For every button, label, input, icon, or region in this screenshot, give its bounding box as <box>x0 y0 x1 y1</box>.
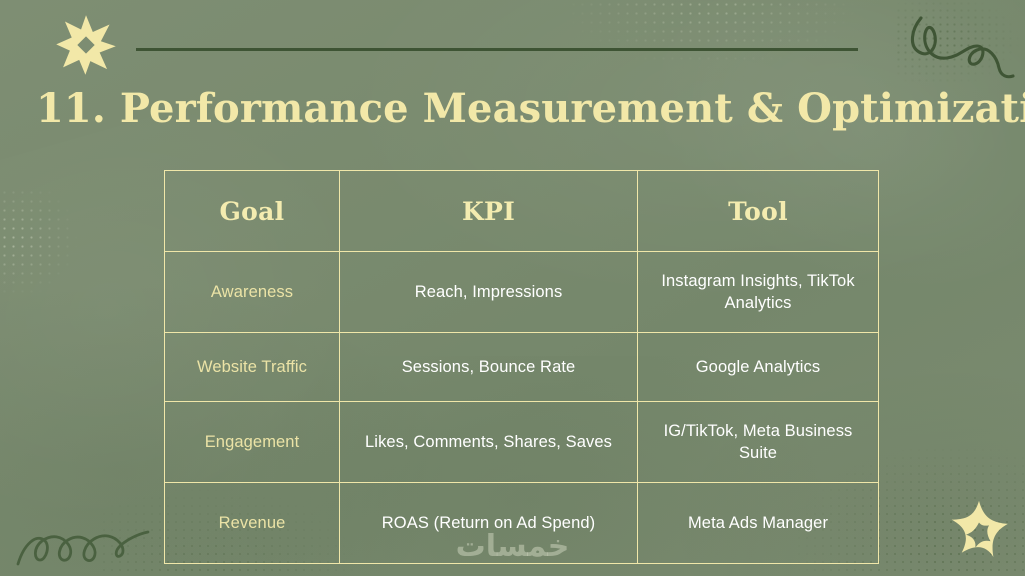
cell-goal: Website Traffic <box>165 333 340 402</box>
sparkle-star-icon <box>55 14 117 76</box>
cell-goal: Awareness <box>165 252 340 333</box>
slide-canvas: 11. Performance Measurement & Optimizati… <box>0 0 1025 576</box>
cell-goal: Engagement <box>165 402 340 483</box>
table-header-row: Goal KPI Tool <box>165 171 879 252</box>
cell-kpi: Sessions, Bounce Rate <box>340 333 638 402</box>
table-row: Website Traffic Sessions, Bounce Rate Go… <box>165 333 879 402</box>
column-header-goal: Goal <box>165 171 340 252</box>
cell-tool: Instagram Insights, TikTok Analytics <box>638 252 879 333</box>
cell-tool: IG/TikTok, Meta Business Suite <box>638 402 879 483</box>
table-body: Awareness Reach, Impressions Instagram I… <box>165 252 879 564</box>
page-title: 11. Performance Measurement & Optimizati… <box>36 86 988 132</box>
table-head: Goal KPI Tool <box>165 171 879 252</box>
cell-kpi: Likes, Comments, Shares, Saves <box>340 402 638 483</box>
loopy-squiggle-icon <box>899 6 1017 86</box>
watermark: خمسات <box>0 529 1025 564</box>
header-divider <box>136 48 858 51</box>
column-header-kpi: KPI <box>340 171 638 252</box>
cell-kpi: Reach, Impressions <box>340 252 638 333</box>
table-row: Engagement Likes, Comments, Shares, Save… <box>165 402 879 483</box>
kpi-table-wrapper: Goal KPI Tool Awareness Reach, Impressio… <box>164 170 878 564</box>
table-row: Awareness Reach, Impressions Instagram I… <box>165 252 879 333</box>
cell-tool: Google Analytics <box>638 333 879 402</box>
halftone-dots-top <box>560 0 860 70</box>
column-header-tool: Tool <box>638 171 879 252</box>
halftone-dots-left <box>0 188 78 298</box>
kpi-table: Goal KPI Tool Awareness Reach, Impressio… <box>164 170 879 564</box>
